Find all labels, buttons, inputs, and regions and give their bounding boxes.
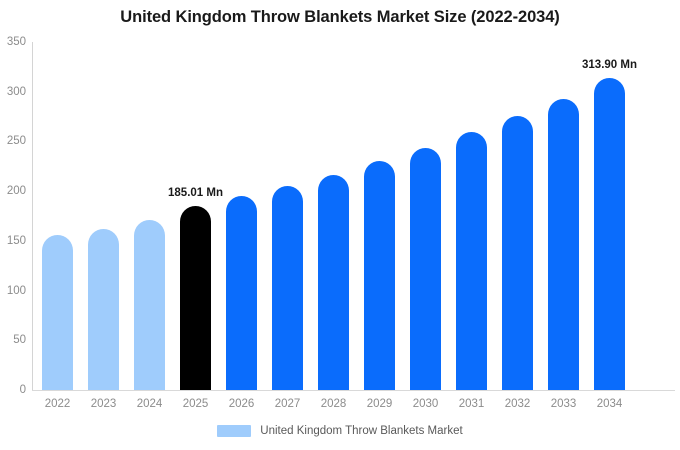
y-axis-tick-label: 300 <box>0 86 26 98</box>
bar-rect[interactable] <box>272 186 303 390</box>
bar-rect[interactable] <box>502 116 533 390</box>
chart-container: United Kingdom Throw Blankets Market Siz… <box>0 0 680 450</box>
bar-rect[interactable] <box>594 78 625 390</box>
bar-2023[interactable] <box>88 229 119 390</box>
chart-legend: United Kingdom Throw Blankets Market <box>0 425 680 437</box>
y-axis-tick-label: 250 <box>0 135 26 147</box>
bar-2022[interactable] <box>42 235 73 390</box>
bar-2033[interactable] <box>548 99 579 390</box>
bar-rect[interactable] <box>134 220 165 390</box>
legend-swatch-icon <box>217 425 251 437</box>
y-axis-tick-label: 50 <box>0 334 26 346</box>
bar-2031[interactable] <box>456 132 487 390</box>
bar-rect[interactable] <box>318 175 349 390</box>
y-axis-tick-label: 200 <box>0 185 26 197</box>
bar-rect[interactable] <box>88 229 119 390</box>
bar-2028[interactable] <box>318 175 349 390</box>
bar-value-label: 313.90 Mn <box>582 59 637 71</box>
bar-2026[interactable] <box>226 196 257 390</box>
bar-rect[interactable] <box>410 148 441 390</box>
y-axis-tick-label: 350 <box>0 36 26 48</box>
bar-2025[interactable] <box>180 206 211 390</box>
bar-2027[interactable] <box>272 186 303 390</box>
plot-area: 185.01 Mn313.90 Mn <box>33 42 675 390</box>
bar-rect[interactable] <box>548 99 579 390</box>
x-axis-tick-label: 2034 <box>580 398 640 410</box>
bar-2029[interactable] <box>364 161 395 390</box>
y-axis-tick-label: 100 <box>0 285 26 297</box>
bar-rect[interactable] <box>226 196 257 390</box>
bar-rect[interactable] <box>42 235 73 390</box>
bar-value-label: 185.01 Mn <box>168 187 223 199</box>
x-axis-line <box>32 390 675 391</box>
bar-rect[interactable] <box>364 161 395 390</box>
y-axis-tick-label: 150 <box>0 235 26 247</box>
bar-2024[interactable] <box>134 220 165 390</box>
bar-2032[interactable] <box>502 116 533 390</box>
chart-title: United Kingdom Throw Blankets Market Siz… <box>0 8 680 27</box>
bar-2034[interactable] <box>594 78 625 390</box>
bar-2030[interactable] <box>410 148 441 390</box>
bar-rect[interactable] <box>180 206 211 390</box>
y-axis-tick-label: 0 <box>0 384 26 396</box>
bar-rect[interactable] <box>456 132 487 390</box>
legend-label: United Kingdom Throw Blankets Market <box>260 425 462 437</box>
